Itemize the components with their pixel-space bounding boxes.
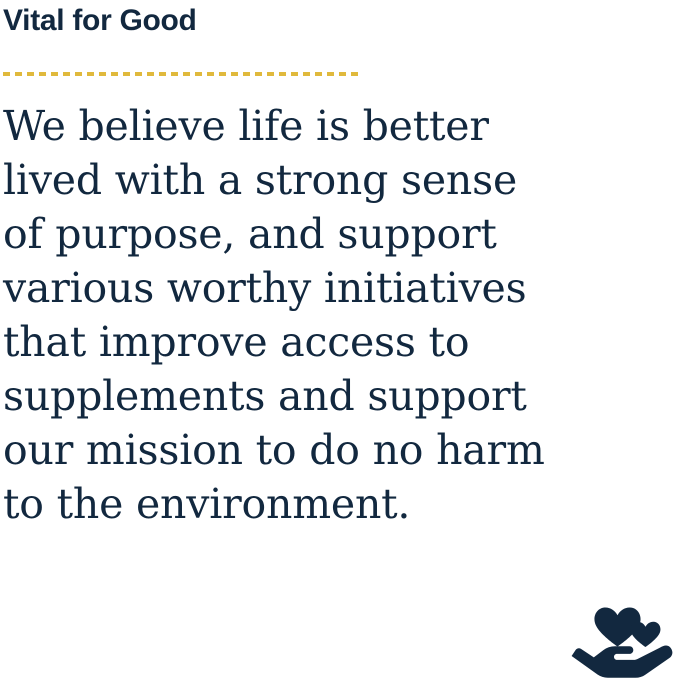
hand-holding-hearts-icon [571,594,675,678]
body-line: to the environment. [3,477,643,531]
body-line: lived with a strong sense [3,153,643,207]
page-title: Vital for Good [3,2,197,40]
vital-for-good-card: Vital for Good We believe life is better… [0,0,679,679]
body-line: We believe life is better [3,99,643,153]
body-paragraph: We believe life is better lived with a s… [3,99,643,531]
body-line: supplements and support [3,369,643,423]
dashed-divider [3,72,360,76]
body-line: of purpose, and support [3,207,643,261]
body-line: our mission to do no harm [3,423,643,477]
body-line: that improve access to [3,315,643,369]
body-line: various worthy initiatives [3,261,643,315]
